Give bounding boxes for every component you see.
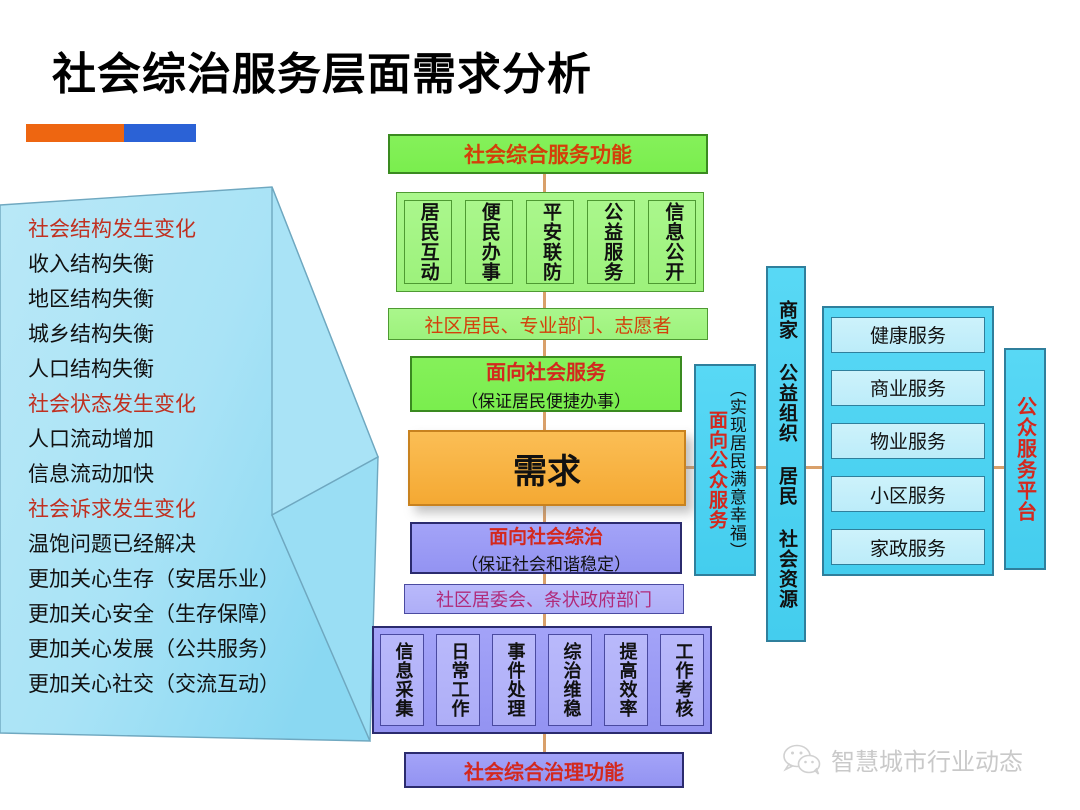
social-service-function-label: 社会综合服务功能 (464, 139, 632, 169)
public-services-group: 健康服务 商业服务 物业服务 小区服务 家政服务 (822, 306, 994, 576)
core-demand-box[interactable]: 需求 (408, 430, 686, 506)
governance-actors-box[interactable]: 社区居委会、条状政府部门 (404, 584, 684, 614)
connector-service-facing (543, 410, 546, 432)
public-service-label: 小区服务 (870, 481, 946, 508)
public-resources-label: 商家 公益组织 居民 社会资源 (776, 300, 796, 609)
governance-item-label: 提高效率 (617, 642, 636, 718)
demand-source-arrow-panel: 社会结构发生变化 收入结构失衡 地区结构失衡 城乡结构失衡 人口结构失衡 社会状… (0, 185, 392, 745)
social-service-function-box[interactable]: 社会综合服务功能 (388, 134, 708, 174)
facing-public-service-box[interactable]: 面向公众服务 （实现居民满意幸福） (694, 364, 756, 576)
service-item-label: 便民办事 (479, 202, 499, 282)
facing-social-service-title: 面向社会服务 (486, 356, 606, 385)
public-service-item[interactable]: 小区服务 (831, 476, 985, 512)
watermark: 智慧城市行业动态 (782, 742, 1023, 777)
service-item-box[interactable]: 便民办事 (465, 200, 513, 284)
governance-item-box[interactable]: 工作考核 (660, 634, 704, 726)
public-service-platform-label: 公众服务平台 (1015, 396, 1036, 522)
governance-item-label: 信息采集 (393, 642, 412, 718)
list-item: 更加关心安全（生存保障） (28, 598, 328, 631)
facing-governance-box[interactable]: 面向社会综治 （保证社会和谐稳定） (410, 522, 682, 574)
service-items-group: 居民互动 便民办事 平安联防 公益服务 信息公开 (396, 192, 704, 292)
facing-public-service-subtitle: （实现居民满意幸福） (726, 380, 744, 560)
list-item: 社会结构发生变化 (28, 213, 328, 246)
service-item-box[interactable]: 平安联防 (526, 200, 574, 284)
title-accent-bar (26, 124, 196, 142)
public-service-item[interactable]: 家政服务 (831, 529, 985, 565)
list-item: 温饱问题已经解决 (28, 528, 328, 561)
public-service-item[interactable]: 健康服务 (831, 317, 985, 353)
governance-item-box[interactable]: 提高效率 (604, 634, 648, 726)
public-service-item[interactable]: 商业服务 (831, 370, 985, 406)
facing-governance-subtitle: （保证社会和谐稳定） (461, 550, 631, 575)
service-item-label: 居民互动 (418, 202, 438, 282)
governance-item-box[interactable]: 信息采集 (380, 634, 424, 726)
service-item-box[interactable]: 公益服务 (587, 200, 635, 284)
governance-item-box[interactable]: 事件处理 (492, 634, 536, 726)
list-item: 社会诉求发生变化 (28, 493, 328, 526)
service-item-label: 公益服务 (601, 202, 621, 282)
list-item: 社会状态发生变化 (28, 388, 328, 421)
public-resources-box[interactable]: 商家 公益组织 居民 社会资源 (766, 266, 806, 642)
governance-item-label: 日常工作 (449, 642, 468, 718)
connector-service-top (543, 172, 546, 194)
service-item-label: 信息公开 (662, 202, 682, 282)
facing-social-service-box[interactable]: 面向社会服务 （保证居民便捷办事） (410, 356, 682, 412)
list-item: 城乡结构失衡 (28, 318, 328, 351)
demand-source-list: 社会结构发生变化 收入结构失衡 地区结构失衡 城乡结构失衡 人口结构失衡 社会状… (28, 213, 328, 701)
page-title: 社会综治服务层面需求分析 (52, 38, 592, 102)
connector-governance-bottom (543, 734, 546, 754)
list-item: 人口结构失衡 (28, 353, 328, 386)
social-governance-function-box[interactable]: 社会综合治理功能 (404, 752, 684, 788)
governance-items-group: 信息采集 日常工作 事件处理 综治维稳 提高效率 工作考核 (372, 626, 712, 734)
facing-social-service-subtitle: （保证居民便捷办事） (461, 387, 631, 412)
list-item: 更加关心发展（公共服务） (28, 633, 328, 666)
accent-bar-orange-segment (26, 124, 124, 142)
public-service-label: 家政服务 (870, 534, 946, 561)
governance-item-label: 事件处理 (505, 642, 524, 718)
governance-actors-label: 社区居委会、条状政府部门 (436, 586, 652, 612)
public-service-item[interactable]: 物业服务 (831, 423, 985, 459)
service-actors-box[interactable]: 社区居民、专业部门、志愿者 (388, 308, 708, 340)
watermark-text: 智慧城市行业动态 (831, 742, 1023, 777)
facing-public-service-title: 面向公众服务 (706, 410, 726, 530)
wechat-icon (782, 744, 822, 776)
public-service-platform-box[interactable]: 公众服务平台 (1004, 348, 1046, 570)
public-service-label: 物业服务 (870, 427, 946, 454)
public-service-label: 健康服务 (870, 321, 946, 348)
governance-item-box[interactable]: 综治维稳 (548, 634, 592, 726)
governance-item-label: 综治维稳 (561, 642, 580, 718)
list-item: 人口流动增加 (28, 423, 328, 456)
service-item-label: 平安联防 (540, 202, 560, 282)
service-item-box[interactable]: 信息公开 (648, 200, 696, 284)
governance-item-label: 工作考核 (673, 642, 692, 718)
governance-item-box[interactable]: 日常工作 (436, 634, 480, 726)
list-item: 更加关心生存（安居乐业） (28, 563, 328, 596)
list-item: 地区结构失衡 (28, 283, 328, 316)
facing-governance-title: 面向社会综治 (489, 522, 603, 549)
accent-bar-blue-segment (124, 124, 196, 142)
public-service-label: 商业服务 (870, 374, 946, 401)
list-item: 收入结构失衡 (28, 248, 328, 281)
list-item: 信息流动加快 (28, 458, 328, 491)
core-demand-label: 需求 (513, 444, 581, 493)
social-governance-function-label: 社会综合治理功能 (464, 756, 624, 785)
service-item-box[interactable]: 居民互动 (404, 200, 452, 284)
slide-canvas: 社会综治服务层面需求分析 社会结构发生变化 收入结构失衡 (0, 0, 1080, 810)
service-actors-label: 社区居民、专业部门、志愿者 (424, 311, 671, 338)
list-item: 更加关心社交（交流互动） (28, 668, 328, 701)
